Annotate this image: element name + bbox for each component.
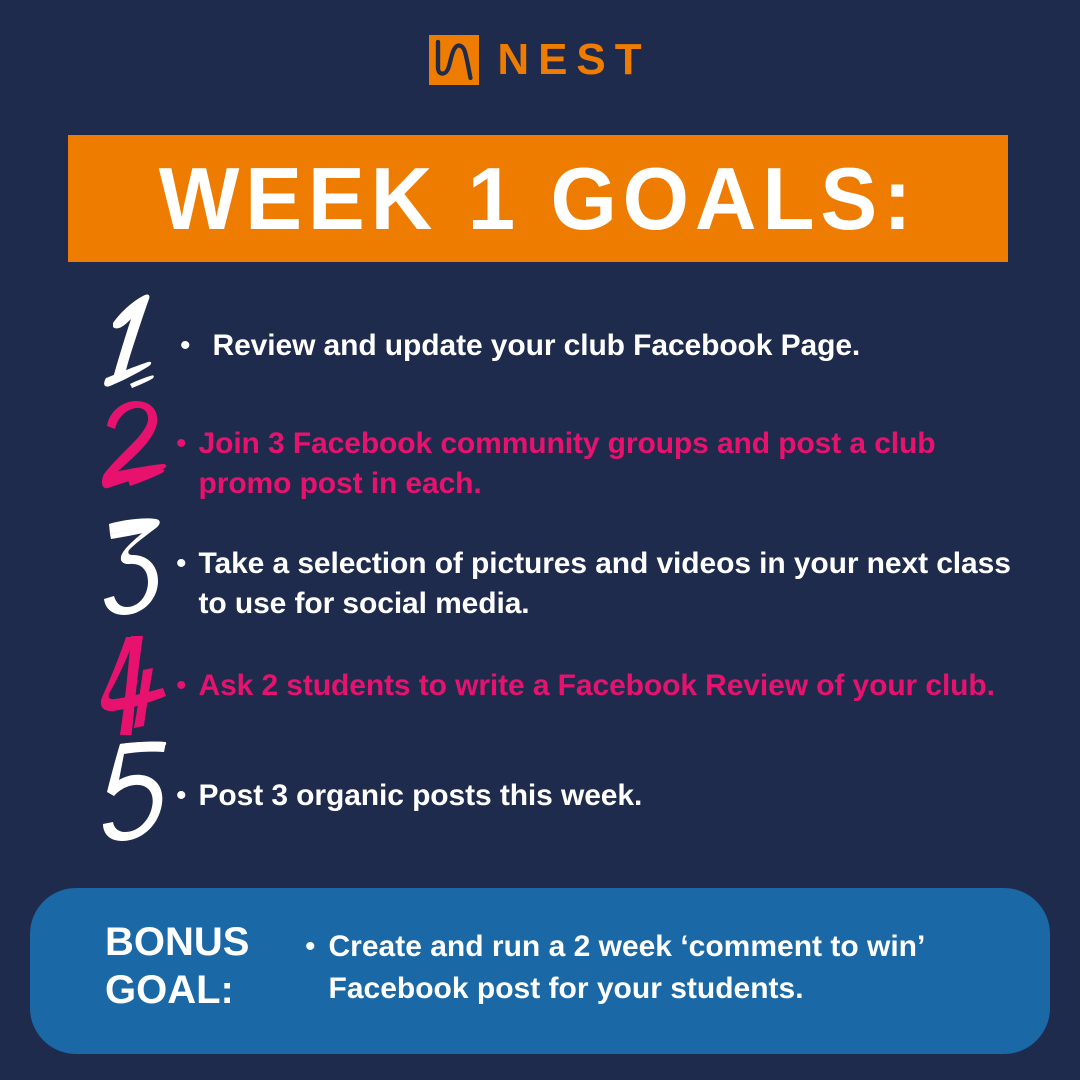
list-item-text: Post 3 organic posts this week. bbox=[199, 776, 643, 816]
brand-logo: NEST bbox=[0, 26, 1080, 94]
list-item: • Ask 2 students to write a Facebook Rev… bbox=[0, 640, 1080, 746]
brush-numeral-4-icon bbox=[100, 634, 178, 740]
page-title: WEEK 1 GOALS: bbox=[159, 155, 918, 243]
list-item: • Post 3 organic posts this week. bbox=[0, 746, 1080, 852]
list-item: • Take a selection of pictures and video… bbox=[0, 522, 1080, 640]
brush-numeral-1-icon bbox=[100, 290, 178, 396]
list-item-text: Ask 2 students to write a Facebook Revie… bbox=[199, 666, 995, 706]
bonus-goal-card: BONUS GOAL: • Create and run a 2 week ‘c… bbox=[30, 888, 1050, 1054]
bonus-goal-text: Create and run a 2 week ‘comment to win’… bbox=[329, 926, 969, 1010]
brush-numeral-3-icon bbox=[100, 516, 178, 622]
bonus-goal-item: • Create and run a 2 week ‘comment to wi… bbox=[305, 888, 969, 1010]
brush-numeral-5-icon bbox=[100, 740, 178, 846]
list-item: • Review and update your club Facebook P… bbox=[0, 296, 1080, 404]
bonus-goal-label: BONUS GOAL: bbox=[30, 888, 305, 1014]
poster-canvas: NEST WEEK 1 GOALS: • Review and update y… bbox=[0, 0, 1080, 1080]
list-item: • Join 3 Facebook community groups and p… bbox=[0, 404, 1080, 522]
list-bullet: • bbox=[305, 926, 316, 968]
brand-wordmark: NEST bbox=[497, 38, 650, 82]
list-item-text: Join 3 Facebook community groups and pos… bbox=[199, 424, 1019, 504]
list-item-text: Review and update your club Facebook Pag… bbox=[213, 326, 861, 366]
title-banner: WEEK 1 GOALS: bbox=[68, 135, 1008, 262]
list-item-text: Take a selection of pictures and videos … bbox=[199, 544, 1019, 624]
brush-numeral-2-icon bbox=[100, 398, 178, 504]
nest-swoosh-mark-icon bbox=[429, 35, 479, 85]
goals-list: • Review and update your club Facebook P… bbox=[0, 296, 1080, 852]
list-bullet: • bbox=[180, 326, 191, 366]
